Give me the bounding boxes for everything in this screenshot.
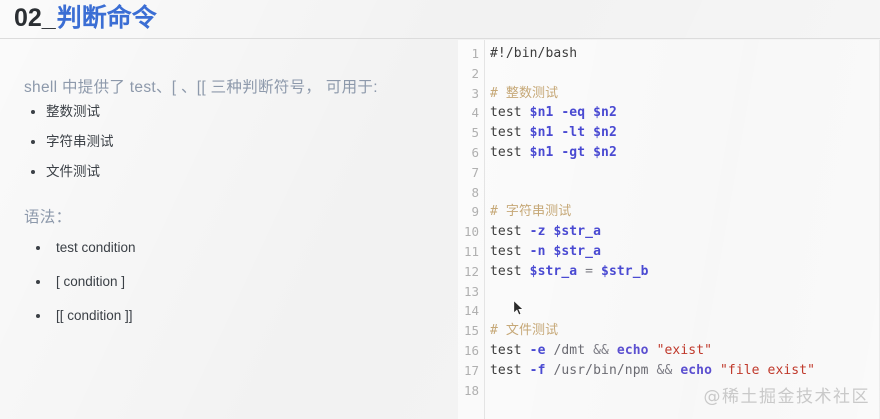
- code-line[interactable]: 7: [458, 163, 880, 183]
- code-lines[interactable]: 1#!/bin/bash23# 整数测试4test $n1 -eq $n25te…: [458, 44, 880, 400]
- code-line[interactable]: 10test -z $str_a: [458, 222, 880, 242]
- line-number: 1: [458, 44, 479, 64]
- list-item: [ condition ]: [24, 273, 136, 290]
- list-item: 文件测试: [24, 163, 114, 180]
- line-number: 12: [458, 262, 479, 282]
- line-number: 14: [458, 301, 479, 321]
- line-number: 6: [458, 143, 479, 163]
- page-title-text: 判断命令: [57, 4, 157, 32]
- code-line[interactable]: 12test $str_a = $str_b: [458, 262, 880, 282]
- line-content[interactable]: test $n1 -gt $n2: [490, 143, 617, 163]
- line-content[interactable]: test -e /dmt && echo "exist": [490, 341, 712, 361]
- syntax-list: test condition [ condition ] [[ conditio…: [24, 239, 136, 341]
- line-number: 18: [458, 381, 479, 401]
- line-number: 2: [458, 64, 479, 84]
- code-line[interactable]: 3# 整数测试: [458, 84, 880, 104]
- line-content[interactable]: # 字符串测试: [490, 202, 571, 222]
- line-number: 9: [458, 202, 479, 222]
- line-number: 15: [458, 321, 479, 341]
- slide-canvas: 02_判断命令 shell 中提供了 test、[ 、[[ 三种判断符号， 可用…: [0, 0, 880, 419]
- line-number: 10: [458, 222, 479, 242]
- page-title: 02_判断命令: [14, 2, 157, 34]
- test-types-list: 整数测试 字符串测试 文件测试: [24, 103, 114, 193]
- code-line[interactable]: 14: [458, 301, 880, 321]
- code-line[interactable]: 6test $n1 -gt $n2: [458, 143, 880, 163]
- code-editor-pane[interactable]: 1#!/bin/bash23# 整数测试4test $n1 -eq $n25te…: [458, 40, 880, 419]
- header-divider: [0, 38, 880, 39]
- line-number: 4: [458, 103, 479, 123]
- line-number: 13: [458, 282, 479, 302]
- list-item: test condition: [24, 239, 136, 256]
- syntax-heading: 语法：: [24, 205, 71, 227]
- list-item: [[ condition ]]: [24, 307, 136, 324]
- line-content[interactable]: test -z $str_a: [490, 222, 601, 242]
- line-number: 7: [458, 163, 479, 183]
- line-content[interactable]: # 文件测试: [490, 321, 558, 341]
- list-item: 字符串测试: [24, 133, 114, 150]
- code-line[interactable]: 9# 字符串测试: [458, 202, 880, 222]
- code-line[interactable]: 11test -n $str_a: [458, 242, 880, 262]
- page-title-number: 02_: [14, 4, 56, 32]
- watermark: @稀土掘金技术社区: [704, 382, 871, 407]
- code-line[interactable]: 2: [458, 64, 880, 84]
- line-content[interactable]: #!/bin/bash: [490, 44, 577, 64]
- code-line[interactable]: 1#!/bin/bash: [458, 44, 880, 64]
- line-number: 11: [458, 242, 479, 262]
- code-line[interactable]: 8: [458, 183, 880, 203]
- line-number: 16: [458, 341, 479, 361]
- line-number: 17: [458, 361, 479, 381]
- code-line[interactable]: 5test $n1 -lt $n2: [458, 123, 880, 143]
- code-line[interactable]: 4test $n1 -eq $n2: [458, 103, 880, 123]
- line-content[interactable]: test $n1 -lt $n2: [490, 123, 617, 143]
- intro-paragraph: shell 中提供了 test、[ 、[[ 三种判断符号， 可用于:: [24, 75, 378, 97]
- line-content[interactable]: test -f /usr/bin/npm && echo "file exist…: [490, 361, 815, 381]
- slide-header: 02_判断命令: [0, 0, 880, 39]
- line-content[interactable]: test -n $str_a: [490, 242, 601, 262]
- line-content[interactable]: # 整数测试: [490, 84, 558, 104]
- line-number: 5: [458, 123, 479, 143]
- list-item: 整数测试: [24, 103, 114, 120]
- code-line[interactable]: 16test -e /dmt && echo "exist": [458, 341, 880, 361]
- code-line[interactable]: 17test -f /usr/bin/npm && echo "file exi…: [458, 361, 880, 381]
- line-content[interactable]: test $n1 -eq $n2: [490, 103, 617, 123]
- line-number: 8: [458, 183, 479, 203]
- content-pane: shell 中提供了 test、[ 、[[ 三种判断符号， 可用于: 整数测试 …: [0, 39, 452, 419]
- code-line[interactable]: 15# 文件测试: [458, 321, 880, 341]
- code-line[interactable]: 13: [458, 282, 880, 302]
- line-number: 3: [458, 84, 479, 104]
- line-content[interactable]: test $str_a = $str_b: [490, 262, 649, 282]
